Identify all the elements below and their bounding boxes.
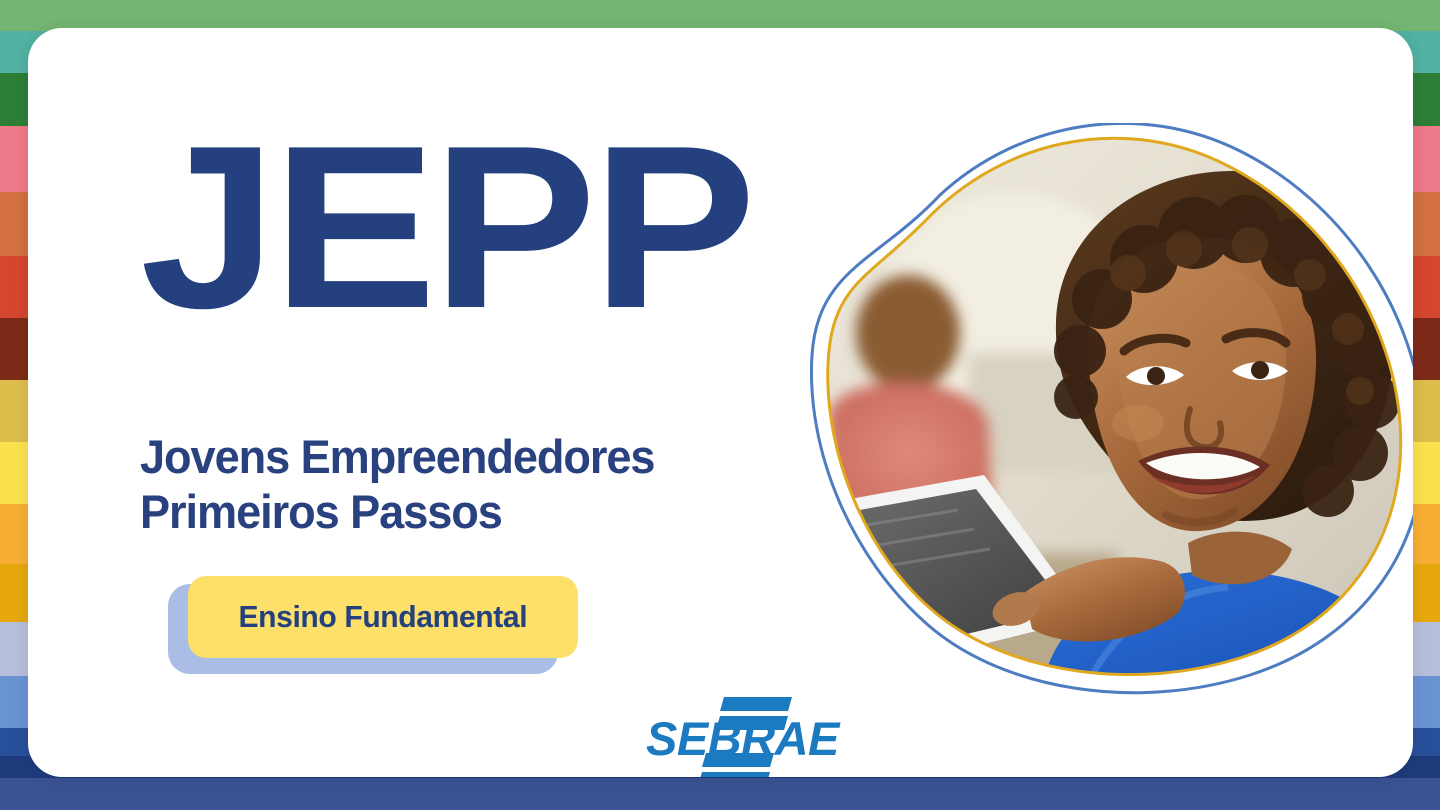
sebrae-logo: SEBRAE (640, 693, 850, 777)
student-photo (788, 123, 1413, 703)
page-title: JEPP (140, 128, 752, 328)
logo-bar-bottom-2 (698, 772, 770, 777)
badge-pill: Ensino Fundamental (188, 576, 578, 658)
logo-bar-top-1 (720, 697, 792, 711)
page-subtitle: Jovens Empreendedores Primeiros Passos (140, 430, 654, 540)
bottom-color-band (0, 778, 1440, 810)
white-card: JEPP Jovens Empreendedores Primeiros Pas… (28, 28, 1413, 777)
education-level-badge: Ensino Fundamental (140, 576, 560, 680)
logo-wordmark: SEBRAE (646, 712, 841, 765)
top-color-band (0, 0, 1440, 31)
badge-label: Ensino Fundamental (239, 599, 528, 635)
poster-canvas: JEPP Jovens Empreendedores Primeiros Pas… (0, 0, 1440, 810)
